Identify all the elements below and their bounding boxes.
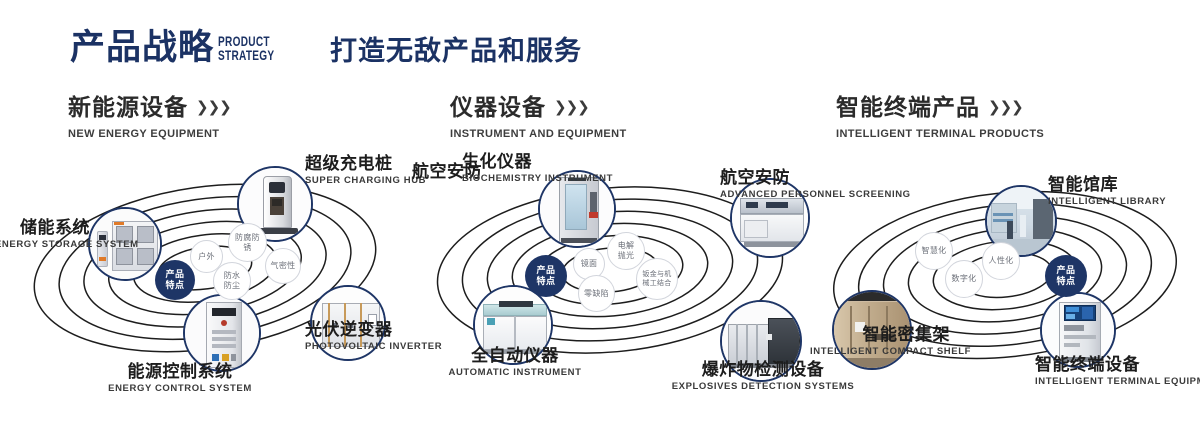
node-label-cn: 智能密集架: [810, 325, 950, 344]
core-bubble-line1: 产品: [1056, 265, 1075, 276]
product-strategy-infographic: 产品战略 PRODUCT STRATEGY 打造无敌产品和服务 新能源设备❯❯❯…: [0, 0, 1200, 422]
core-bubble-line1: 产品: [536, 265, 555, 276]
core-bubble-line2: 特点: [165, 280, 184, 291]
node-label-en: INTELLIGENT COMPACT SHELF: [810, 346, 950, 358]
node-label-biochemistry-instrument: 生化仪器 BIOCHEMISTRY INSTRUMENT: [462, 152, 554, 185]
node-label-en: BIOCHEMISTRY INSTRUMENT: [462, 173, 554, 185]
page-title-en-line1: PRODUCT: [218, 34, 274, 48]
node-label-intelligent-library: 智能馆库 INTELLIGENT LIBRARY: [1048, 175, 1166, 208]
page-header: 产品战略 PRODUCT STRATEGY 打造无敌产品和服务: [0, 0, 1200, 90]
section-header-new-energy: 新能源设备❯❯❯ NEW ENERGY EQUIPMENT: [68, 94, 231, 140]
core-bubble-product-features: 产品 特点: [525, 255, 567, 297]
energy-control-cabinet-image: [185, 296, 259, 370]
chevron-right-triple-icon: ❯❯❯: [554, 95, 589, 121]
diagram-new-energy-equipment: 产品 特点 户外 防腐防锈 气密性 防水防尘 储能系统 ENERGY STORA…: [0, 150, 420, 410]
section-header-instrument: 仪器设备❯❯❯ INSTRUMENT AND EQUIPMENT: [450, 94, 627, 140]
feature-bubble-airtightness: 气密性: [265, 248, 301, 284]
node-label-intelligent-compact-shelf: 智能密集架 INTELLIGENT COMPACT SHELF: [810, 325, 950, 358]
feature-bubble-intelligent: 智慧化: [915, 232, 953, 270]
feature-bubble-electropolishing: 电解抛光: [607, 232, 645, 270]
section-title-cn-text: 仪器设备: [450, 94, 546, 120]
section-title-cn: 仪器设备❯❯❯: [450, 94, 627, 124]
core-bubble-product-features: 产品 特点: [155, 260, 195, 300]
feature-bubble-sheetmetal-machining: 钣金与机械工结合: [636, 258, 678, 300]
feature-bubble-anticorrosion: 防腐防锈: [228, 223, 267, 262]
section-title-cn-text: 智能终端产品: [836, 94, 980, 120]
page-title-en: PRODUCT STRATEGY: [218, 34, 274, 62]
node-label-cn: 智能馆库: [1048, 175, 1166, 194]
diagram-instrument-and-equipment: 产品 特点 镜面 电解抛光 零缺陷 钣金与机械工结合 航空安防 生化仪器 BIO…: [400, 150, 820, 410]
feature-bubble-waterproof-dustproof: 防水防尘: [213, 262, 251, 300]
chevron-right-triple-icon: ❯❯❯: [988, 95, 1023, 121]
page-title-cn: 产品战略: [70, 30, 214, 65]
node-label-cn: 智能终端设备: [1035, 355, 1200, 374]
node-label-cn: 全自动仪器: [435, 346, 595, 365]
core-bubble-line1: 产品: [165, 269, 184, 280]
node-label-cn: 储能系统: [0, 218, 90, 237]
node-label-cn: 生化仪器: [462, 152, 554, 171]
core-bubble-line2: 特点: [536, 276, 555, 287]
photo-circle-energy-control-system[interactable]: [183, 294, 261, 372]
node-label-en: AUTOMATIC INSTRUMENT: [435, 367, 595, 379]
node-label-energy-storage-system: 储能系统 ENERGY STORAGE SYSTEM: [0, 218, 90, 251]
diagram-intelligent-terminal-products: 产品 特点 智慧化 数字化 人性化 智能馆库 INTELLIGENT LIBRA…: [790, 150, 1200, 410]
section-title-en: INTELLIGENT TERMINAL PRODUCTS: [836, 128, 1044, 140]
node-label-automatic-instrument: 全自动仪器 AUTOMATIC INSTRUMENT: [435, 346, 595, 379]
core-bubble-line2: 特点: [1056, 276, 1075, 287]
section-title-en: INSTRUMENT AND EQUIPMENT: [450, 128, 627, 140]
chevron-right-triple-icon: ❯❯❯: [196, 95, 231, 121]
section-title-cn-text: 新能源设备: [68, 94, 188, 120]
core-bubble-product-features: 产品 特点: [1045, 255, 1087, 297]
section-header-intelligent-terminal: 智能终端产品❯❯❯ INTELLIGENT TERMINAL PRODUCTS: [836, 94, 1044, 140]
node-label-energy-control-system: 能源控制系统 ENERGY CONTROL SYSTEM: [85, 362, 275, 395]
node-label-cn: 能源控制系统: [85, 362, 275, 381]
node-label-en: INTELLIGENT LIBRARY: [1048, 196, 1166, 208]
feature-bubble-zero-defect: 零缺陷: [578, 275, 615, 312]
feature-bubble-humanized: 人性化: [982, 242, 1020, 280]
node-label-en: INTELLIGENT TERMINAL EQUIPMENT: [1035, 376, 1200, 388]
section-title-en: NEW ENERGY EQUIPMENT: [68, 128, 231, 140]
node-label-intelligent-terminal-equipment: 智能终端设备 INTELLIGENT TERMINAL EQUIPMENT: [1035, 355, 1200, 388]
node-label-en: ENERGY STORAGE SYSTEM: [0, 239, 90, 251]
page-subtitle: 打造无敌产品和服务: [330, 38, 582, 65]
section-title-cn: 智能终端产品❯❯❯: [836, 94, 1044, 124]
node-label-en: ENERGY CONTROL SYSTEM: [85, 383, 275, 395]
section-title-cn: 新能源设备❯❯❯: [68, 94, 231, 124]
page-title-en-line2: STRATEGY: [218, 48, 274, 62]
feature-bubble-digital: 数字化: [945, 260, 983, 298]
